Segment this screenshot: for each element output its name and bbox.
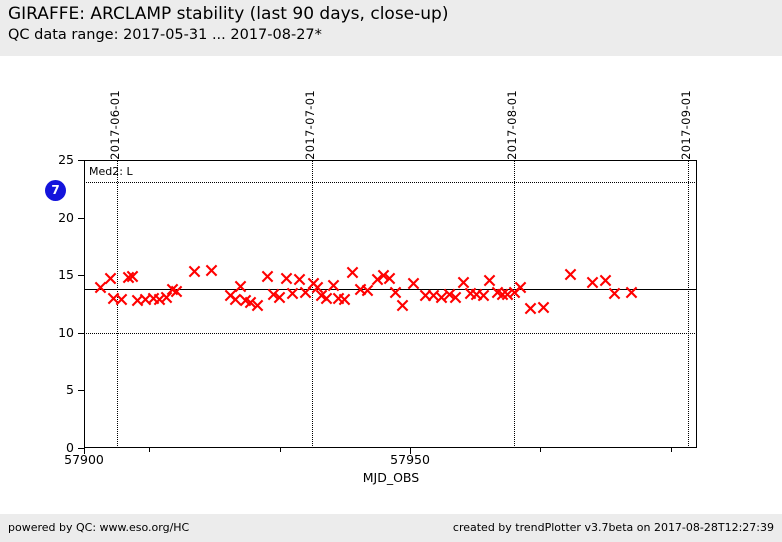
x-axis-minor-tick [540, 448, 541, 452]
page-title: GIRAFFE: ARCLAMP stability (last 90 days… [8, 4, 448, 24]
footer-band: powered by QC: www.eso.org/HC created by… [0, 514, 782, 542]
date-gridline [688, 160, 689, 448]
chart-area: 7 0510152025 5790057950 2017-06-012017-0… [0, 56, 782, 514]
reference-line-upper-limit [84, 182, 697, 183]
date-axis-label: 2017-06-01 [108, 90, 122, 160]
x-axis-minor-tick [671, 448, 672, 452]
median-annotation: Med2: L [89, 165, 133, 178]
y-axis-tick-label: 15 [40, 267, 74, 282]
qc-data-range-subtitle: QC data range: 2017-05-31 ... 2017-08-27… [8, 27, 322, 43]
date-gridline [514, 160, 515, 448]
y-axis-tick [78, 333, 84, 334]
x-axis-minor-tick [280, 448, 281, 452]
date-gridline [117, 160, 118, 448]
date-axis-label: 2017-09-01 [679, 90, 693, 160]
reference-line-median [84, 289, 697, 290]
y-axis-tick [78, 218, 84, 219]
y-axis-tick-label: 20 [40, 210, 74, 225]
y-axis-tick-label: 5 [40, 382, 74, 397]
date-axis-label: 2017-07-01 [303, 90, 317, 160]
plot-frame [84, 160, 697, 448]
status-badge[interactable]: 7 [45, 180, 66, 201]
date-gridline [312, 160, 313, 448]
y-axis-tick [78, 275, 84, 276]
footer-credit-right: created by trendPlotter v3.7beta on 2017… [453, 521, 774, 534]
header-band: GIRAFFE: ARCLAMP stability (last 90 days… [0, 0, 782, 56]
x-axis-tick-label: 57900 [64, 452, 104, 467]
y-axis-tick-label: 10 [40, 325, 74, 340]
reference-line-lower-limit [84, 333, 697, 334]
y-axis-tick [78, 390, 84, 391]
x-axis-minor-tick [149, 448, 150, 452]
x-axis-tick-label: 57950 [390, 452, 430, 467]
x-axis-title: MJD_OBS [0, 470, 782, 485]
date-axis-label: 2017-08-01 [505, 90, 519, 160]
y-axis-tick [78, 160, 84, 161]
y-axis-tick-label: 25 [40, 152, 74, 167]
footer-credit-left: powered by QC: www.eso.org/HC [8, 521, 189, 534]
